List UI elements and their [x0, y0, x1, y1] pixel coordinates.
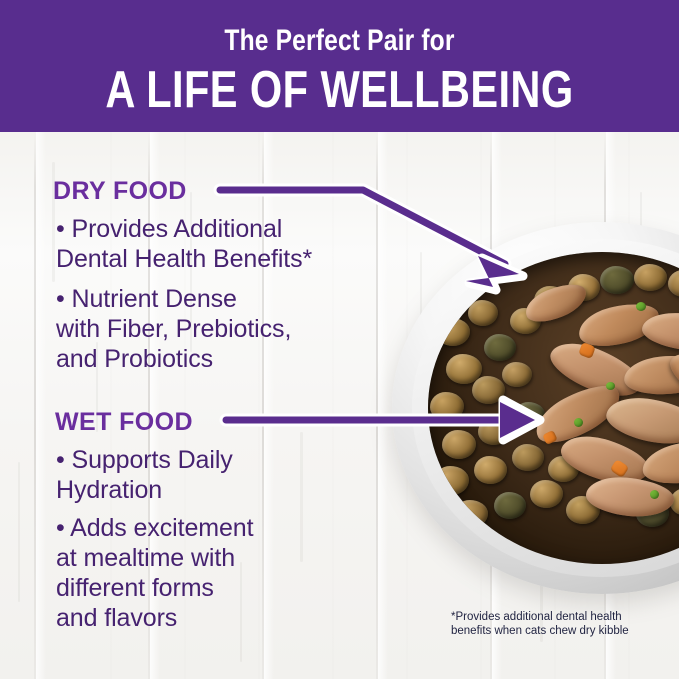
bullet-line: and Probiotics [56, 344, 291, 374]
wet-food-bullet-2: • Adds excitement at mealtime with diffe… [56, 513, 253, 633]
dry-food-bullet-1: • Provides Additional Dental Health Bene… [56, 214, 312, 274]
header-subtitle: The Perfect Pair for [61, 22, 618, 60]
section-heading-dry-food: DRY FOOD [53, 177, 187, 206]
header-title: A LIFE OF WELLBEING [68, 60, 611, 120]
bullet-line: • Provides Additional [56, 214, 312, 244]
wet-food-bullet-1: • Supports Daily Hydration [56, 445, 233, 505]
bullet-line: different forms [56, 573, 253, 603]
promo-poster: The Perfect Pair for A LIFE OF WELLBEING [0, 0, 679, 679]
header-banner: The Perfect Pair for A LIFE OF WELLBEING [0, 0, 679, 132]
section-heading-wet-food: WET FOOD [55, 408, 193, 437]
bullet-line: • Supports Daily [56, 445, 233, 475]
bullet-line: • Adds excitement [56, 513, 253, 543]
bullet-line: • Nutrient Dense [56, 284, 291, 314]
bullet-line: at mealtime with [56, 543, 253, 573]
footnote-line-1: *Provides additional dental health [451, 610, 671, 624]
bullet-line: Dental Health Benefits* [56, 244, 312, 274]
footnote-line-2: benefits when cats chew dry kibble [451, 624, 671, 638]
dry-food-bullet-2: • Nutrient Dense with Fiber, Prebiotics,… [56, 284, 291, 374]
footnote: *Provides additional dental health benef… [451, 610, 671, 638]
bullet-line: and flavors [56, 603, 253, 633]
bullet-line: with Fiber, Prebiotics, [56, 314, 291, 344]
bullet-line: Hydration [56, 475, 233, 505]
